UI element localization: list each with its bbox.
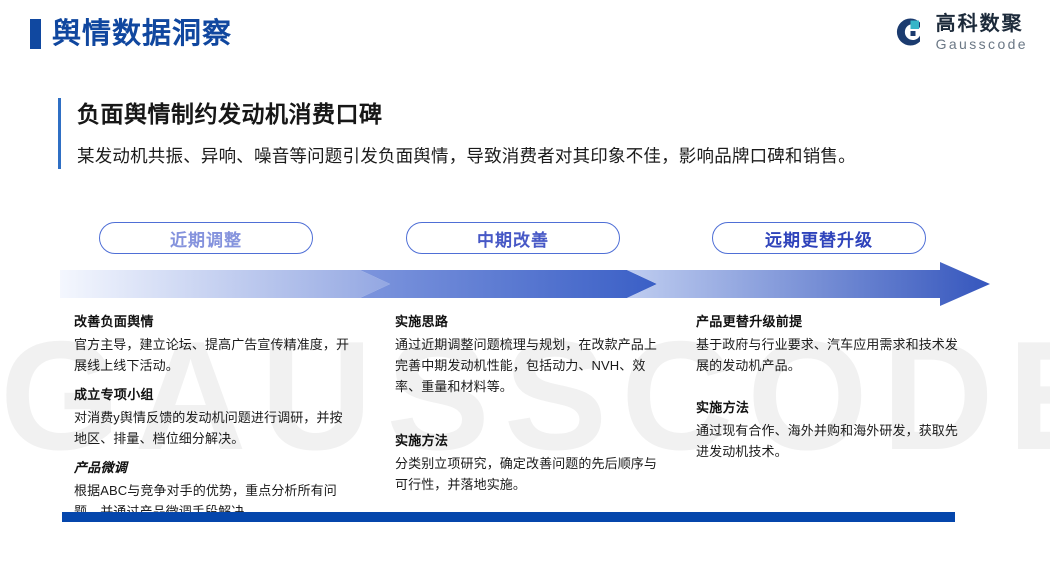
detail-block-body: 通过近期调整问题梳理与规划，在改款产品上完善中期发动机性能，包括动力、NVH、效… — [395, 334, 660, 397]
detail-block-body: 基于政府与行业要求、汽车应用需求和技术发展的发动机产品。 — [696, 334, 964, 376]
detail-block: 实施方法 分类别立项研究，确定改善问题的先后顺序与可行性，并落地实施。 — [395, 431, 660, 495]
detail-block-title: 改善负面舆情 — [74, 312, 352, 332]
detail-block-body: 分类别立项研究，确定改善问题的先后顺序与可行性，并落地实施。 — [395, 453, 660, 495]
detail-block: 产品更替升级前提 基于政府与行业要求、汽车应用需求和技术发展的发动机产品。 — [696, 312, 964, 376]
header-accent-bar — [30, 19, 41, 49]
detail-block: 成立专项小组 对消费y舆情反馈的发动机问题进行调研，并按地区、排量、档位细分解决… — [74, 385, 352, 449]
page-title: 舆情数据洞察 — [52, 14, 232, 54]
stage-pill-near-term: 近期调整 — [99, 222, 313, 254]
detail-block: 实施方法 通过现有合作、海外并购和海外研发，获取先进发动机技术。 — [696, 398, 964, 462]
column-near-term: 改善负面舆情 官方主导，建立论坛、提高广告宣传精准度，开展线上线下活动。 成立专… — [74, 312, 352, 531]
right-arrow-timeline-icon — [60, 262, 990, 306]
stage-pill-near-term-label: 近期调整 — [170, 226, 242, 251]
lead-title: 负面舆情制约发动机消费口碑 — [77, 98, 977, 130]
detail-block-title: 产品微调 — [74, 458, 352, 478]
gausscode-logo-icon — [890, 13, 928, 51]
brand-logo: 高科数聚 Gausscode — [890, 13, 1028, 51]
stage-pill-mid-term-label: 中期改善 — [477, 226, 549, 251]
detail-block-title: 实施思路 — [395, 312, 660, 332]
lead-subtitle: 某发动机共振、异响、噪音等问题引发负面舆情，导致消费者对其印象不佳，影响品牌口碑… — [77, 143, 977, 169]
column-long-term: 产品更替升级前提 基于政府与行业要求、汽车应用需求和技术发展的发动机产品。 实施… — [696, 312, 964, 471]
detail-block: 改善负面舆情 官方主导，建立论坛、提高广告宣传精准度，开展线上线下活动。 — [74, 312, 352, 376]
footer-bar — [62, 512, 955, 522]
detail-block-body: 官方主导，建立论坛、提高广告宣传精准度，开展线上线下活动。 — [74, 334, 352, 376]
detail-block-title: 成立专项小组 — [74, 385, 352, 405]
detail-block-body: 通过现有合作、海外并购和海外研发，获取先进发动机技术。 — [696, 420, 964, 462]
detail-block-title: 实施方法 — [696, 398, 964, 418]
detail-block-title: 产品更替升级前提 — [696, 312, 964, 332]
lead-block: 负面舆情制约发动机消费口碑 某发动机共振、异响、噪音等问题引发负面舆情，导致消费… — [58, 98, 977, 169]
stage-pill-long-term-label: 远期更替升级 — [765, 226, 873, 251]
detail-block: 实施思路 通过近期调整问题梳理与规划，在改款产品上完善中期发动机性能，包括动力、… — [395, 312, 660, 397]
detail-block-title: 实施方法 — [395, 431, 660, 451]
logo-text-cn: 高科数聚 — [936, 14, 1028, 34]
detail-block-body: 对消费y舆情反馈的发动机问题进行调研，并按地区、排量、档位细分解决。 — [74, 407, 352, 449]
column-mid-term: 实施思路 通过近期调整问题梳理与规划，在改款产品上完善中期发动机性能，包括动力、… — [395, 312, 660, 504]
stage-pill-long-term: 远期更替升级 — [712, 222, 926, 254]
logo-text-en: Gausscode — [936, 37, 1028, 51]
stage-pill-mid-term: 中期改善 — [406, 222, 620, 254]
page-header: 舆情数据洞察 高科数聚 Gausscode — [0, 0, 1050, 72]
